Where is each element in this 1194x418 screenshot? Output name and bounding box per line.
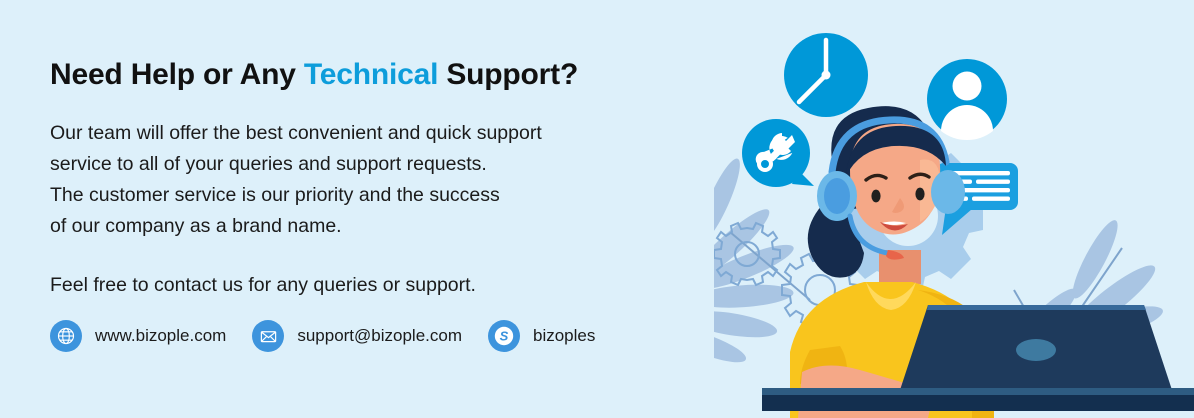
laptop — [890, 305, 1184, 402]
skype-icon: S — [488, 320, 520, 352]
support-banner: Need Help or Any Technical Support? Our … — [0, 0, 1194, 418]
contact-item-website[interactable]: www.bizople.com — [50, 320, 226, 352]
body-paragraph-1: Our team will offer the best convenient … — [50, 118, 740, 242]
support-illustration — [714, 0, 1194, 418]
text-column: Need Help or Any Technical Support? Our … — [50, 58, 740, 301]
contact-row: www.bizople.com support@bizople.com S bi… — [50, 320, 621, 352]
contact-label-email: support@bizople.com — [297, 326, 462, 346]
headline-part-after: Support? — [438, 58, 578, 91]
contact-item-skype[interactable]: S bizoples — [488, 320, 595, 352]
body-paragraph-2: Feel free to contact us for any queries … — [50, 270, 740, 301]
illustration-svg — [714, 0, 1194, 418]
svg-text:S: S — [500, 329, 509, 344]
contact-item-email[interactable]: support@bizople.com — [252, 320, 462, 352]
wrench-speech-bubble-icon — [742, 119, 814, 187]
envelope-icon — [252, 320, 284, 352]
desk — [762, 388, 1194, 411]
headline-accent-word: Technical — [304, 58, 438, 91]
contact-label-skype: bizoples — [533, 326, 595, 346]
page-title: Need Help or Any Technical Support? — [50, 58, 740, 92]
globe-icon — [50, 320, 82, 352]
clock-icon — [784, 33, 868, 117]
headline-part-before: Need Help or Any — [50, 58, 304, 91]
contact-label-website: www.bizople.com — [95, 326, 226, 346]
user-avatar-icon — [927, 59, 1007, 140]
